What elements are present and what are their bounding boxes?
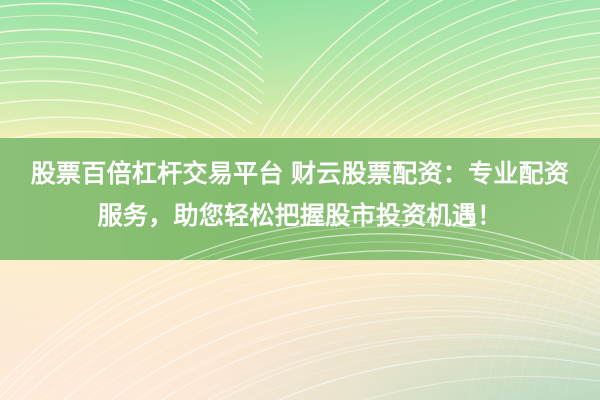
headline-line-1: 股票百倍杠杆交易平台 财云股票配资：专业配资 [0, 153, 600, 195]
promo-banner: 股票百倍杠杆交易平台 财云股票配资：专业配资 服务，助您轻松把握股市投资机遇！ [0, 0, 600, 400]
banner-headline: 股票百倍杠杆交易平台 财云股票配资：专业配资 服务，助您轻松把握股市投资机遇！ [0, 153, 600, 237]
headline-line-2: 服务，助您轻松把握股市投资机遇！ [0, 195, 600, 237]
